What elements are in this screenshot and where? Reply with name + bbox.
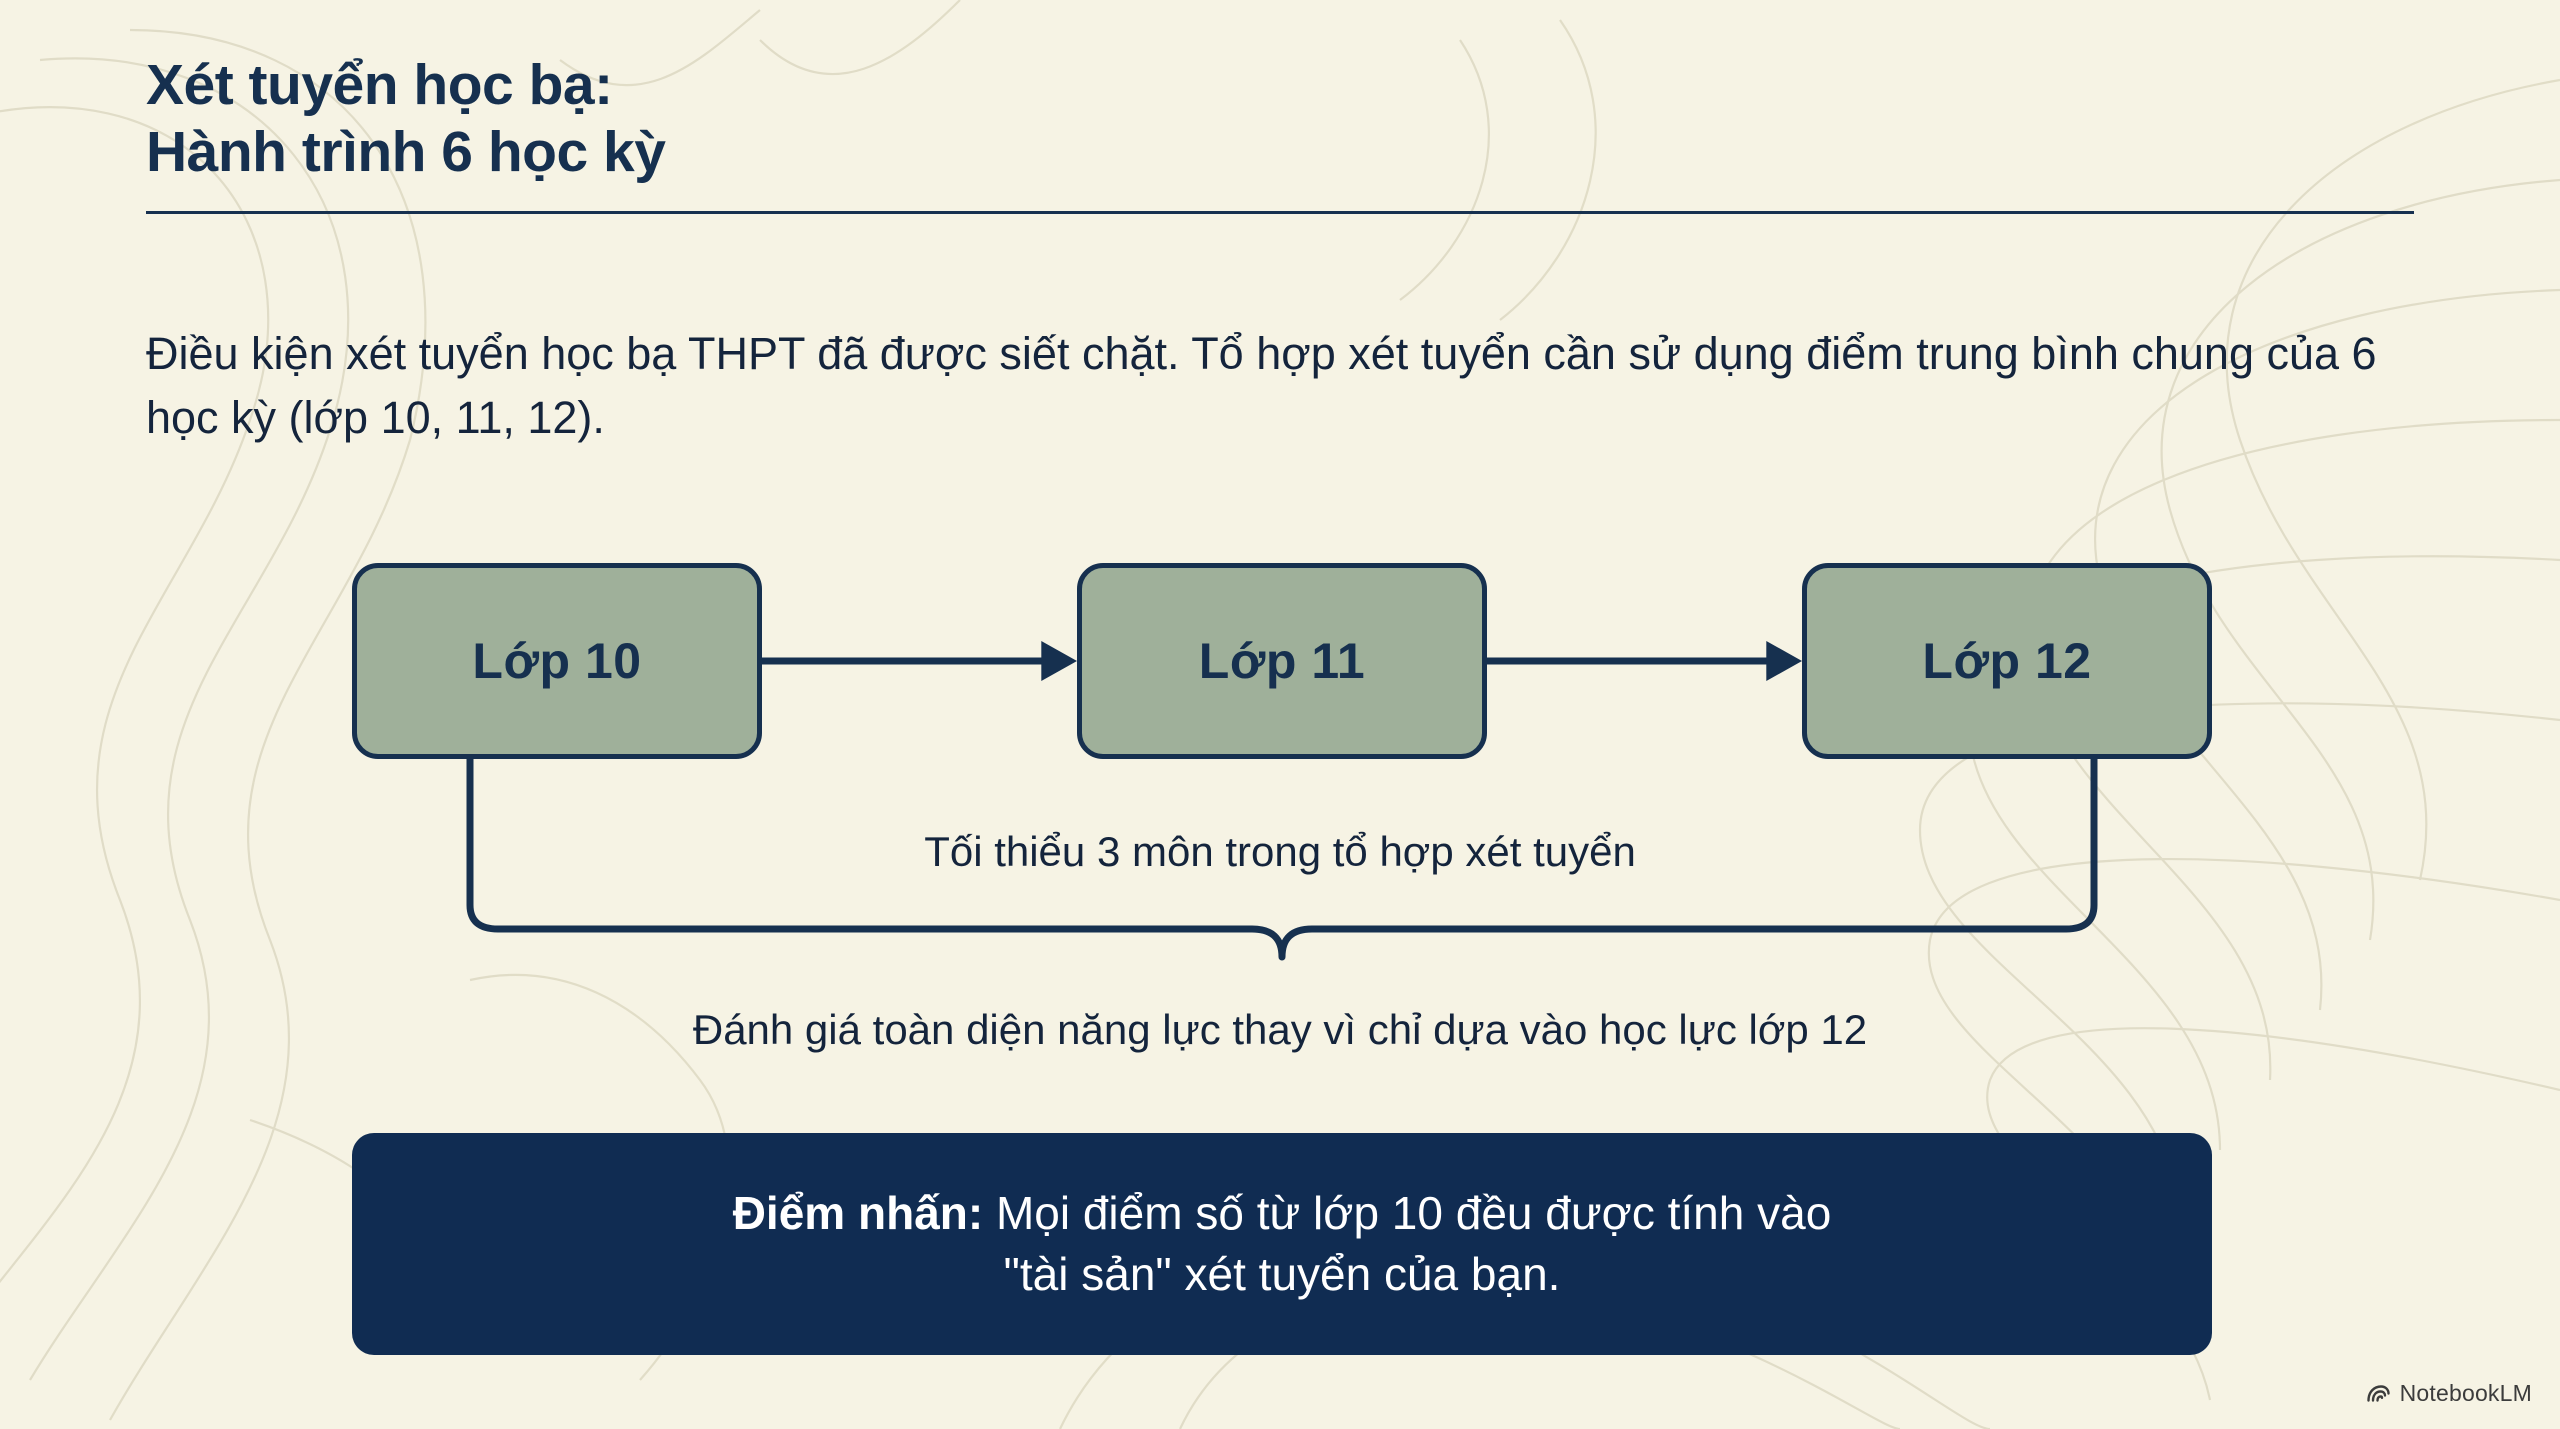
- flow-step-label: Lớp 12: [1922, 632, 2091, 690]
- page-title-line-2: Hành trình 6 học kỳ: [146, 119, 2414, 186]
- highlight-callout: Điểm nhấn: Mọi điểm số từ lớp 10 đều đượ…: [352, 1133, 2212, 1355]
- slide-header: Xét tuyển học bạ: Hành trình 6 học kỳ: [146, 52, 2414, 214]
- flow-step-label: Lớp 10: [472, 632, 641, 690]
- grade-flow-row: Lớp 10 Lớp 11 Lớp 12: [352, 561, 2212, 761]
- callout-emphasis-label: Điểm nhấn:: [733, 1187, 983, 1239]
- flow-step-grade-12: Lớp 12: [1802, 563, 2212, 759]
- page-title-line-1: Xét tuyển học bạ:: [146, 52, 2414, 119]
- notebooklm-spiral-icon: [2365, 1381, 2391, 1407]
- intro-paragraph: Điều kiện xét tuyển học bạ THPT đã được …: [146, 322, 2426, 450]
- bracket-caption: Tối thiểu 3 môn trong tổ hợp xét tuyển: [0, 828, 2560, 876]
- title-divider: [146, 211, 2414, 214]
- watermark-label: NotebookLM: [2400, 1380, 2532, 1407]
- flow-step-label: Lớp 11: [1199, 632, 1365, 690]
- notebooklm-watermark: NotebookLM: [2365, 1380, 2532, 1407]
- flow-step-grade-11: Lớp 11: [1077, 563, 1487, 759]
- bracket-summary-text: Đánh giá toàn diện năng lực thay vì chỉ …: [0, 1006, 2560, 1054]
- callout-line-2: "tài sản" xét tuyển của bạn.: [1004, 1244, 1561, 1305]
- arrow-right-icon: [1487, 631, 1802, 691]
- callout-line-1: Điểm nhấn: Mọi điểm số từ lớp 10 đều đượ…: [733, 1183, 1832, 1244]
- callout-line-1-rest: Mọi điểm số từ lớp 10 đều được tính vào: [983, 1187, 1831, 1239]
- arrow-right-icon: [762, 631, 1077, 691]
- flow-step-grade-10: Lớp 10: [352, 563, 762, 759]
